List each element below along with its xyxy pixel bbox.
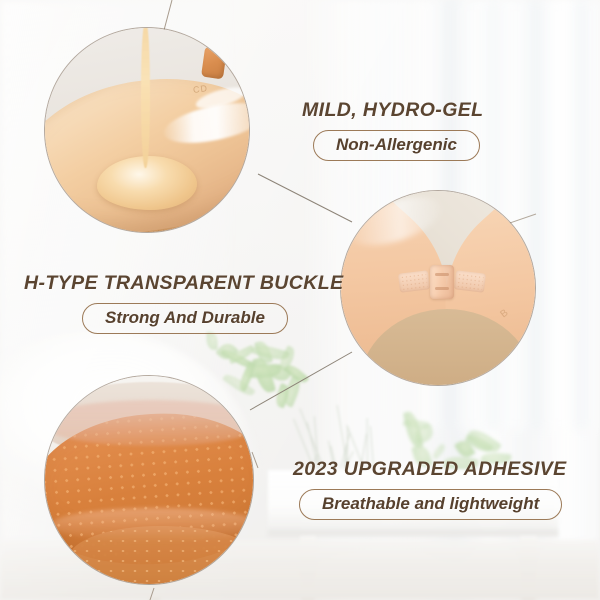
callout-badge: Non-Allergenic (313, 130, 480, 161)
cup-tab (201, 47, 227, 80)
callout-badge: Strong And Durable (82, 303, 288, 334)
gel-stream (141, 27, 150, 168)
leaf-shape (206, 332, 218, 350)
callout-hydro-gel: MILD, HYDRO-GEL Non-Allergenic (302, 99, 484, 161)
callout-headline: H-TYPE TRANSPARENT BUCKLE (24, 272, 343, 295)
callout-upgraded-adhesive: 2023 UPGRADED ADHESIVE Breathable and li… (293, 458, 567, 520)
feature-image-hydro-gel: CD (44, 27, 250, 233)
h-type-buckle (399, 265, 485, 299)
adhesive-rim (44, 400, 254, 446)
callout-badge: Breathable and lightweight (299, 489, 562, 520)
buckle-clip (430, 265, 454, 299)
feature-image-h-type-buckle: B (340, 190, 536, 386)
callout-h-type-buckle: H-TYPE TRANSPARENT BUCKLE Strong And Dur… (24, 272, 343, 334)
callout-headline: 2023 UPGRADED ADHESIVE (293, 458, 567, 481)
feature-image-adhesive (44, 375, 254, 585)
cup-size-marking: CD (192, 83, 208, 95)
product-feature-infographic: CD B MILD, HYDRO-GEL Non-Allergenic (0, 0, 600, 600)
callout-headline: MILD, HYDRO-GEL (302, 99, 484, 122)
adhesive-edge-highlight (51, 508, 254, 542)
buckle-strap-left (398, 270, 430, 293)
buckle-strap-right (454, 270, 486, 293)
